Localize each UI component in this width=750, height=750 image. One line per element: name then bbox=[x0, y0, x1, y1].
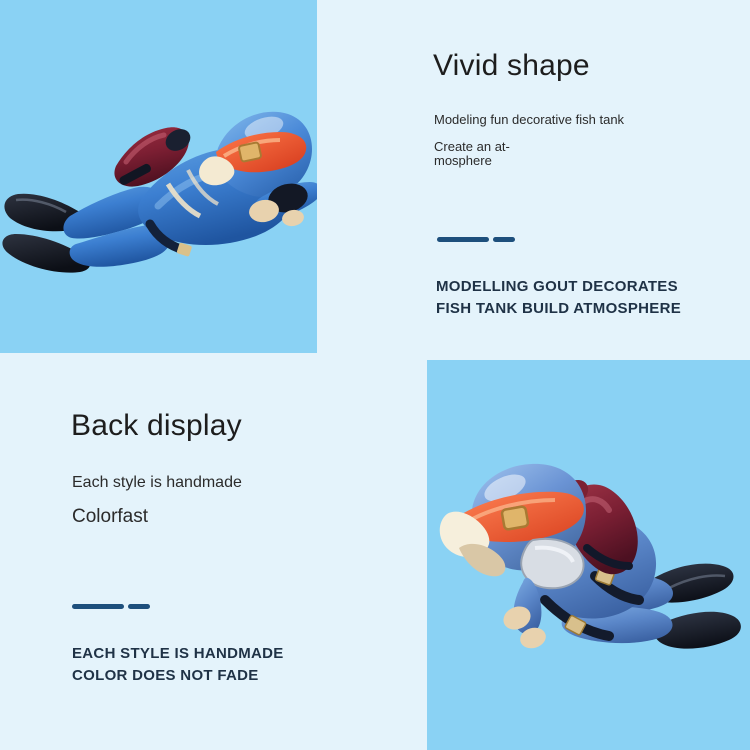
page-title-back-display: Back display bbox=[71, 409, 242, 443]
dash-short-icon bbox=[128, 604, 150, 609]
text-panel-back-display: Back display Each style is handmade Colo… bbox=[0, 353, 420, 750]
caption-line: COLOR DOES NOT FADE bbox=[72, 665, 284, 687]
subtitle-modeling-fun: Modeling fun decorative fish tank bbox=[434, 112, 624, 127]
dash-rule-divider-bottom bbox=[72, 604, 162, 609]
product-photo-top-left[interactable] bbox=[0, 0, 317, 353]
product-photo-bottom-right[interactable] bbox=[427, 360, 750, 750]
caption-each-style-handmade: EACH STYLE IS HANDMADE COLOR DOES NOT FA… bbox=[72, 643, 284, 687]
dash-long-icon bbox=[72, 604, 124, 609]
diver-illustration bbox=[0, 48, 317, 298]
subtitle-create-atmosphere: Create an at-mosphere bbox=[434, 140, 524, 167]
caption-modelling-gout: MODELLING GOUT DECORATES FISH TANK BUILD… bbox=[436, 276, 681, 320]
caption-line: EACH STYLE IS HANDMADE bbox=[72, 643, 284, 665]
text-panel-vivid-shape: Vivid shape Modeling fun decorative fish… bbox=[420, 0, 750, 353]
caption-line: MODELLING GOUT DECORATES bbox=[436, 276, 681, 298]
caption-line: FISH TANK BUILD ATMOSPHERE bbox=[436, 298, 681, 320]
diver-figurine-back-view bbox=[437, 430, 747, 720]
diver-goggle-buckle bbox=[501, 506, 528, 530]
dash-short-icon bbox=[493, 237, 515, 242]
diver-illustration-back bbox=[437, 430, 747, 720]
diver-figurine-side-view bbox=[0, 48, 317, 298]
subtitle-colorfast: Colorfast bbox=[72, 506, 148, 528]
diver-goggle-buckle bbox=[239, 142, 262, 162]
page-title-vivid-shape: Vivid shape bbox=[433, 49, 590, 83]
dash-rule-divider-top bbox=[437, 237, 527, 242]
dash-long-icon bbox=[437, 237, 489, 242]
subtitle-each-style-handmade: Each style is handmade bbox=[72, 474, 242, 492]
